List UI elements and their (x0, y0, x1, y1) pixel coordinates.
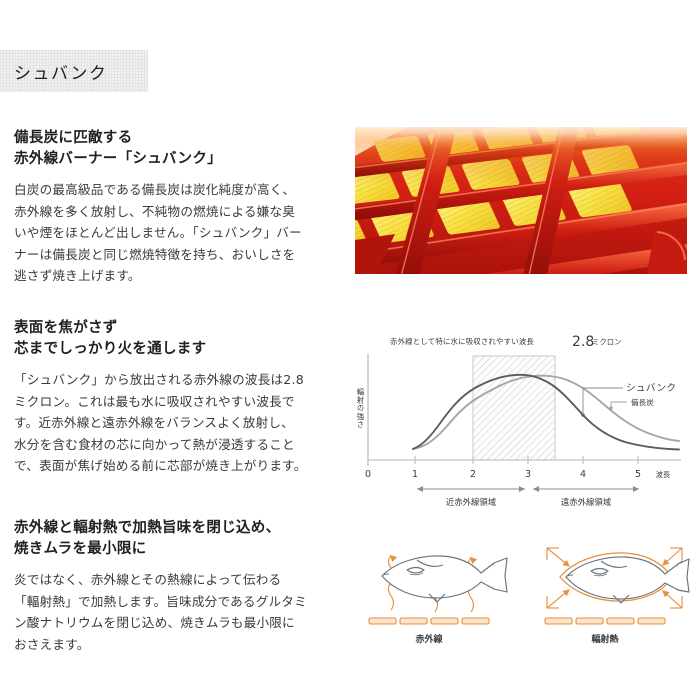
chart-svg: 赤外線として特に水に吸収されやすい波長 2.8 ミクロン 0 1 2 3 4 5… (355, 330, 687, 510)
section-2-body: 「シュバンク」から放出される赤外線の波長は2.8 ミクロン。これは最も水に吸収さ… (14, 369, 336, 477)
x-tick-labels: 0 1 2 3 4 5 (365, 469, 641, 480)
x-axis-label: 波長 (656, 470, 670, 479)
section-2-body-line-1: 「シュバンク」から放出される赤外線の波長は2.8 (14, 369, 336, 391)
chart-title-prefix: 赤外線として特に水に吸収されやすい波長 (390, 337, 534, 346)
section-3-body-line-2: 「輻射熱」で加熱します。旨味成分であるグルタミ (14, 591, 336, 613)
section-1-title-line-1: 備長炭に匹敵する (14, 128, 336, 149)
legend-label-schwank: シュバンク (626, 383, 676, 394)
heat-transfer-diagram: 赤外線 (355, 532, 687, 657)
section-1-body-line-3: いや煙をほとんど出しません。「シュバンク」バー (14, 222, 336, 244)
section-1-title: 備長炭に匹敵する 赤外線バーナー「シュバンク」 (14, 128, 336, 170)
section-3-body: 炎ではなく、赤外線とその熱線によって伝わる 「輻射熱」で加熱します。旨味成分であ… (14, 569, 336, 655)
x-tick-2: 2 (470, 469, 476, 480)
section-3-title: 赤外線と輻射熱で加熱旨味を閉じ込め、 焼きムラを最小限に (14, 518, 336, 560)
far-ir-label: 遠赤外線領域 (561, 497, 612, 507)
section-2-body-line-4: 水分を含む食材の芯に向かって熱が浸透すること (14, 434, 336, 456)
section-1-body: 白炭の最高級品である備長炭は炭化純度が高く、 赤外線を多く放射し、不純物の燃焼に… (14, 179, 336, 287)
fish-diagram-svg: 赤外線 (355, 532, 687, 657)
panel-infrared: 赤外線 (369, 556, 507, 645)
panel-radiant-heat: 輻射熱 (545, 548, 689, 645)
section-1-body-line-2: 赤外線を多く放射し、不純物の燃焼による嫌な臭 (14, 201, 336, 223)
burner-bar-infrared (369, 618, 489, 624)
x-tick-3: 3 (525, 469, 531, 480)
x-tick-4: 4 (580, 469, 586, 480)
burner-bar-radiant (545, 618, 665, 624)
section-3-text: 赤外線と輻射熱で加熱旨味を閉じ込め、 焼きムラを最小限に 炎ではなく、赤外線とそ… (14, 518, 336, 655)
chart-legend: シュバンク 備長炭 (581, 383, 676, 417)
fish-icon (566, 557, 689, 603)
highlight-band (473, 356, 555, 460)
product-photo (355, 122, 687, 280)
section-1-title-line-2: 赤外線バーナー「シュバンク」 (14, 149, 336, 170)
section-3-body-line-3: ン酸ナトリウムを閉じ込め、焼きムラも最小限に (14, 612, 336, 634)
section-2-body-line-2: ミクロン。これは最も水に吸収されやすい波長で (14, 391, 336, 413)
legend-leader-bincho (611, 402, 627, 408)
fish-icon (382, 556, 507, 602)
page-header: シュバンク (0, 50, 148, 92)
section-2-text: 表面を焦がさず 芯までしっかり火を通します 「シュバンク」から放出される赤外線の… (14, 318, 336, 477)
near-ir-label: 近赤外線領域 (446, 497, 497, 507)
radiant-heat-caption: 輻射熱 (591, 633, 618, 645)
legend-label-bincho: 備長炭 (631, 398, 654, 407)
chart-title-emphasis-suffix: ミクロン (592, 338, 622, 347)
chart-title-emphasis: 2.8 (572, 334, 594, 350)
section-3-title-line-1: 赤外線と輻射熱で加熱旨味を閉じ込め、 (14, 518, 336, 539)
y-axis-label: 輻射の強さ (356, 388, 365, 429)
section-2-body-line-3: す。近赤外線と遠赤外線をバランスよく放射し、 (14, 412, 336, 434)
page-title: シュバンク (14, 59, 107, 84)
section-2-title-line-2: 芯までしっかり火を通します (14, 339, 336, 360)
burner-photo-illustration (355, 122, 687, 280)
section-2-body-line-5: で、表面が焦げ始める前に芯部が焼き上がります。 (14, 455, 336, 477)
x-tick-5: 5 (635, 469, 641, 480)
section-2-title-line-1: 表面を焦がさず (14, 318, 336, 339)
section-1-body-line-5: 逃さず焼き上げます。 (14, 265, 336, 287)
radiation-spectrum-chart: 赤外線として特に水に吸収されやすい波長 2.8 ミクロン 0 1 2 3 4 5… (355, 330, 687, 510)
section-3-title-line-2: 焼きムラを最小限に (14, 539, 336, 560)
section-1-text: 備長炭に匹敵する 赤外線バーナー「シュバンク」 白炭の最高級品である備長炭は炭化… (14, 128, 336, 287)
section-1-body-line-4: ナーは備長炭と同じ燃焼特徴を持ち、おいしさを (14, 244, 336, 266)
section-3-body-line-4: おさえます。 (14, 634, 336, 656)
x-tick-1: 1 (412, 469, 418, 480)
section-2-title: 表面を焦がさず 芯までしっかり火を通します (14, 318, 336, 360)
infrared-caption: 赤外線 (414, 633, 443, 645)
section-3-body-line-1: 炎ではなく、赤外線とその熱線によって伝わる (14, 569, 336, 591)
x-tick-0: 0 (365, 469, 371, 480)
chart-region-arrows: 近赤外線領域 遠赤外線領域 (417, 489, 639, 507)
section-1-body-line-1: 白炭の最高級品である備長炭は炭化純度が高く、 (14, 179, 336, 201)
